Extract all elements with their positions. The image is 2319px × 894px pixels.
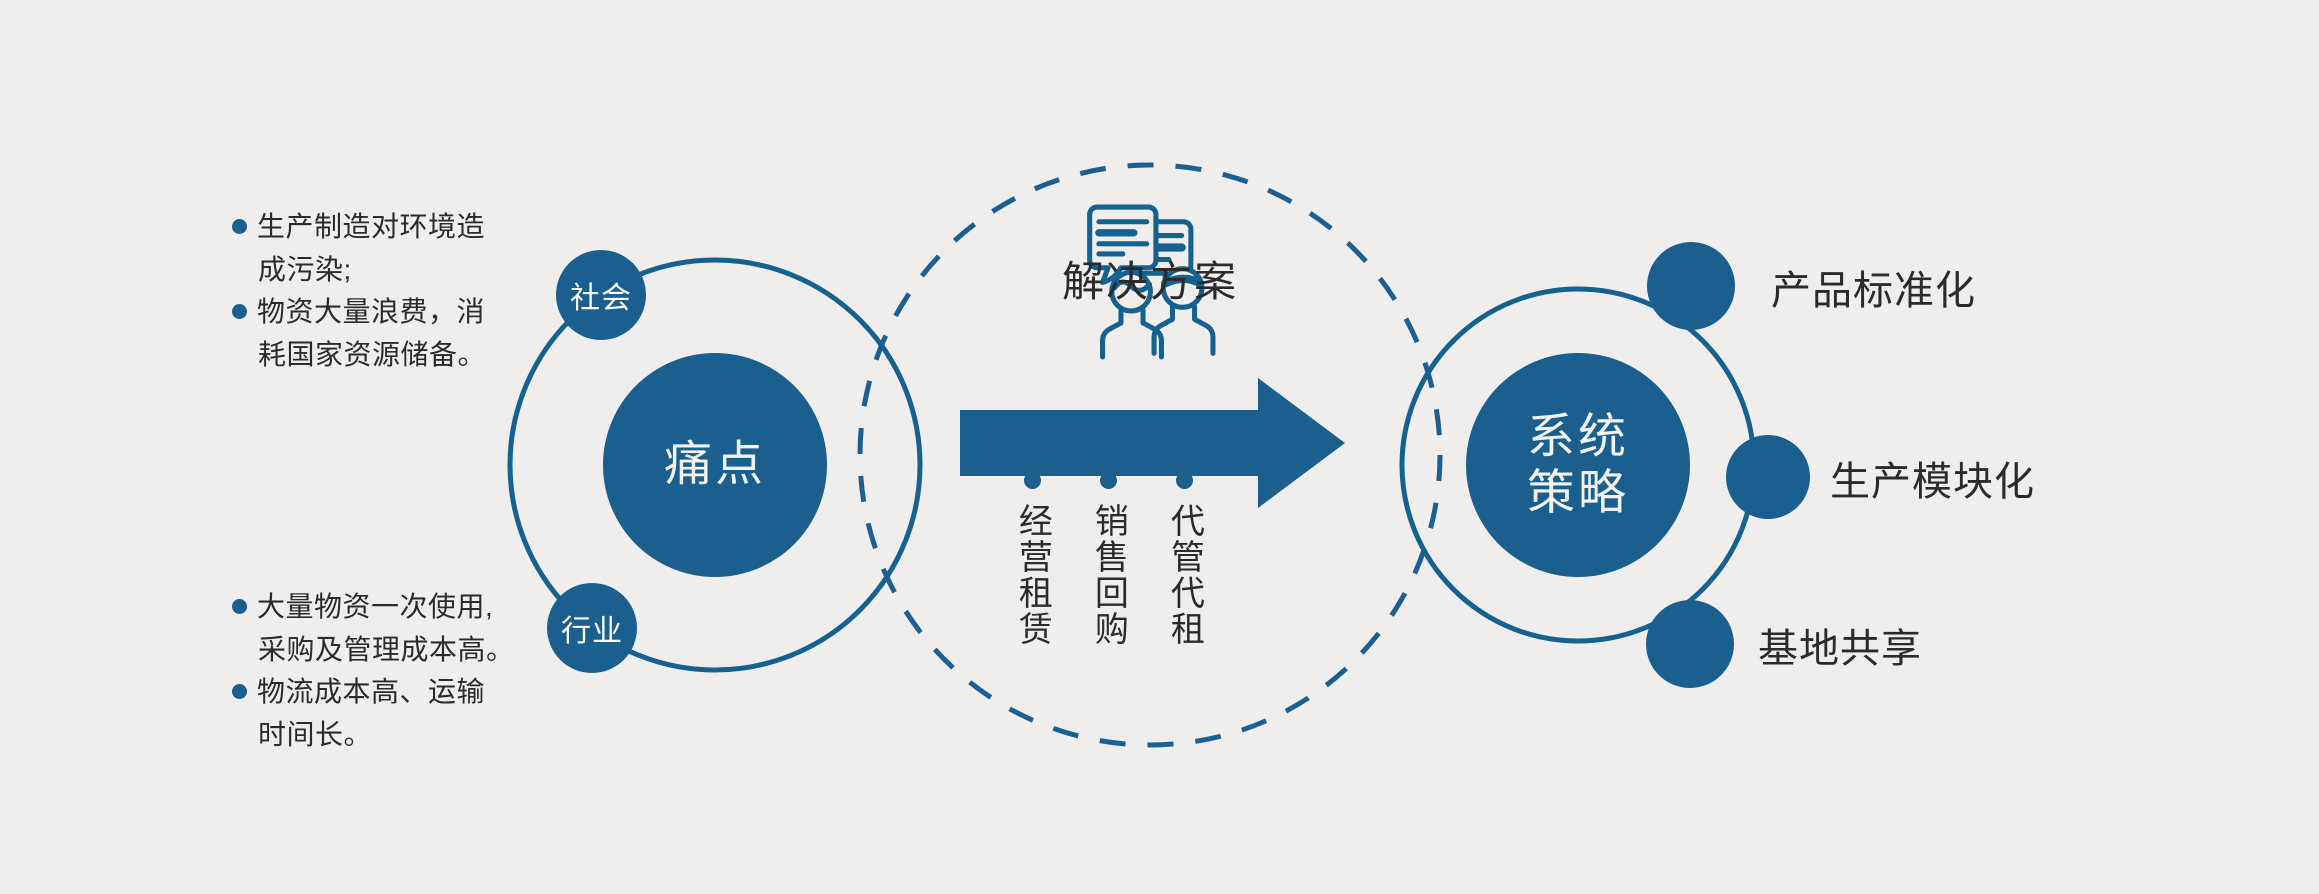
note-text: 采购及管理成本高。 [258,634,515,665]
note-text: 生产制造对环境造 [257,211,485,242]
left-satellite-society-label: 社会 [570,273,632,317]
solution-column-label: 经营租赁 [1013,503,1052,647]
pain-notes-top: 生产制造对环境造 成污染; 物资大量浪费，消 耗国家资源储备。 [258,206,558,376]
bullet-dot-icon [1024,472,1041,489]
bullet-dot-icon [1176,472,1193,489]
diagram-canvas: 生产制造对环境造 成污染; 物资大量浪费，消 耗国家资源储备。 大量物资一次使用… [0,0,2319,894]
bullet-dot-icon [232,219,247,234]
note-line: 物资大量浪费，消 [258,291,558,334]
left-core-label: 痛点 [664,437,766,493]
left-satellite-industry-label: 行业 [561,606,623,650]
right-node-label-standardization: 产品标准化 [1771,258,1976,316]
solution-column-label: 代管代租 [1165,503,1204,647]
right-node-modularization [1726,435,1810,519]
note-text: 成污染; [258,254,352,285]
right-node-label-base-sharing: 基地共享 [1758,616,1922,674]
note-line: 采购及管理成本高。 [258,629,558,672]
note-line: 物流成本高、运输 [258,671,558,714]
right-node-standardization [1647,242,1735,330]
solution-column-lease: 经营租赁 [1008,472,1056,647]
solution-columns: 经营租赁 销售回购 代管代租 [1008,472,1208,647]
note-text: 时间长。 [258,719,372,750]
note-line: 成污染; [258,249,558,292]
note-text: 物资大量浪费，消 [257,296,485,327]
bullet-dot-icon [1100,472,1117,489]
note-line: 时间长。 [258,714,558,757]
solution-column-label: 销售回购 [1089,503,1128,647]
note-text: 物流成本高、运输 [257,676,485,707]
solution-column-buyback: 销售回购 [1084,472,1132,647]
right-node-base-sharing [1646,600,1734,688]
pain-notes-bottom: 大量物资一次使用, 采购及管理成本高。 物流成本高、运输 时间长。 [258,586,558,756]
note-line: 耗国家资源储备。 [258,334,558,377]
bullet-dot-icon [232,304,247,319]
note-text: 大量物资一次使用, [257,591,493,622]
right-core-label: 系统 策略 [1527,409,1629,520]
note-text: 耗国家资源储备。 [258,339,486,370]
note-line: 生产制造对环境造 [258,206,558,249]
solution-column-agency: 代管代租 [1160,472,1208,647]
right-node-label-modularization: 生产模块化 [1830,449,2035,507]
solution-title: 解决方案 [1062,248,1238,309]
bullet-dot-icon [232,599,247,614]
bullet-dot-icon [232,684,247,699]
note-line: 大量物资一次使用, [258,586,558,629]
diagram-vector-layer [0,0,2319,894]
